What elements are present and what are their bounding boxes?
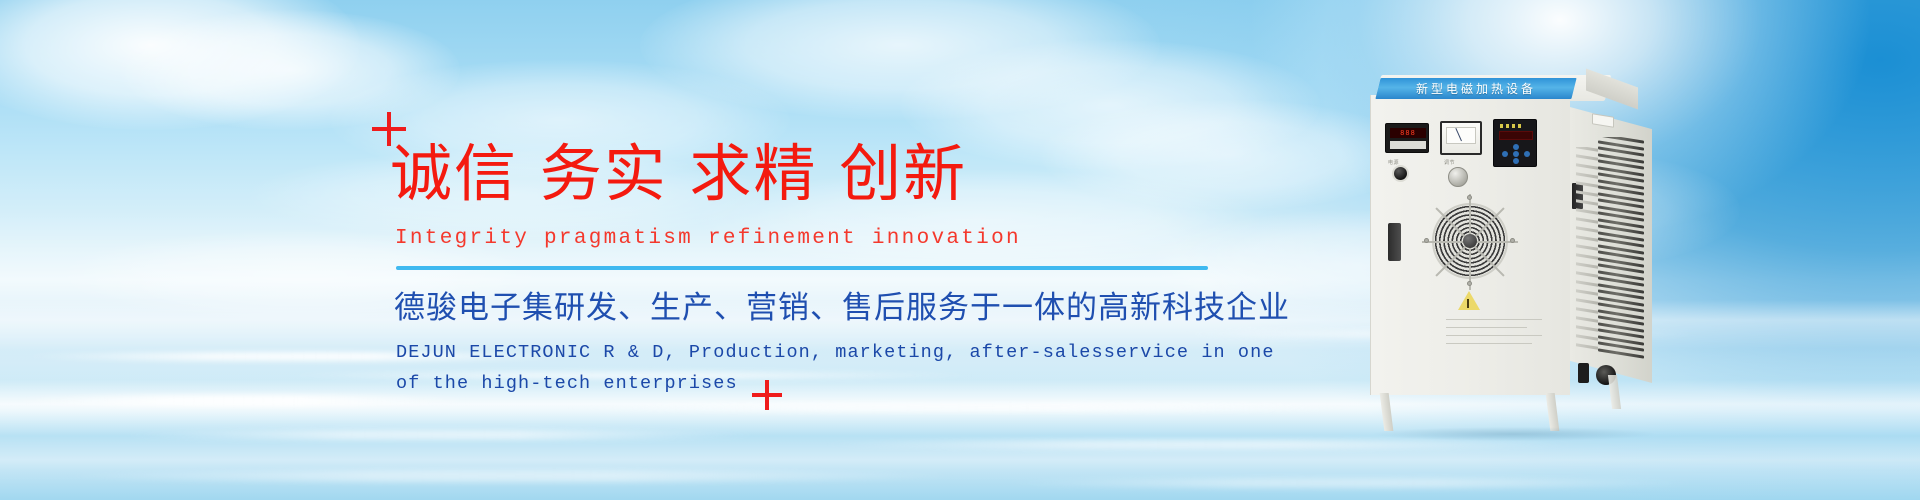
spec-text-line — [1446, 335, 1542, 336]
divider-line — [396, 266, 1208, 270]
plus-marker-icon — [752, 380, 782, 410]
status-led — [1500, 124, 1503, 128]
product-image-heating-machine: 新型电磁加热设备 888 — [1360, 75, 1690, 445]
warning-exclamation-mark — [1467, 299, 1469, 308]
grille-screw — [1467, 281, 1472, 286]
vent-slat — [1576, 147, 1598, 152]
promo-banner: 诚信 务实 求精 创新 Integrity pragmatism refinem… — [0, 0, 1920, 500]
machine-name-plate-text: 新型电磁加热设备 — [1416, 80, 1536, 97]
description-line-1: DEJUN ELECTRONIC R & D, Production, mark… — [396, 337, 1196, 368]
fan-hub — [1463, 234, 1477, 248]
machine-leg — [1380, 393, 1394, 431]
side-vent-group-inner — [1576, 147, 1598, 359]
spec-text-line — [1446, 343, 1532, 344]
spec-text-line — [1446, 327, 1527, 328]
meter-needle — [1455, 128, 1462, 141]
status-led-row — [1500, 124, 1521, 128]
controller-keypad[interactable] — [1390, 141, 1426, 149]
keypad-buttons[interactable] — [1502, 144, 1530, 164]
headline-english: Integrity pragmatism refinement innovati… — [395, 227, 1021, 250]
vent-slat — [1576, 262, 1598, 268]
door-handle[interactable] — [1388, 223, 1401, 261]
specification-label — [1446, 319, 1542, 351]
vent-slat — [1576, 298, 1598, 304]
status-led — [1512, 124, 1515, 128]
description-line-2: of the high-tech enterprises — [396, 368, 1196, 399]
vent-slat — [1576, 307, 1598, 313]
machine-leg — [1546, 393, 1560, 431]
side-vent-group-outer — [1598, 137, 1644, 361]
vent-slat — [1576, 289, 1598, 295]
vent-slat — [1576, 172, 1598, 178]
keypad-button-left[interactable] — [1502, 151, 1508, 157]
vent-slat — [1576, 280, 1598, 286]
vent-slat — [1576, 163, 1598, 169]
vent-slat — [1576, 199, 1598, 205]
vent-slat — [1576, 235, 1598, 241]
vent-slat — [1576, 244, 1598, 250]
analog-ammeter — [1440, 121, 1482, 155]
grille-screw — [1424, 238, 1429, 243]
keypad-display — [1499, 131, 1533, 140]
subtitle-chinese: 德骏电子集研发、生产、营销、售后服务于一体的高新科技企业 — [394, 290, 1290, 327]
vent-slat — [1576, 190, 1598, 196]
description-english: DEJUN ELECTRONIC R & D, Production, mark… — [396, 337, 1196, 399]
power-inlet-port — [1578, 363, 1589, 383]
grille-screw — [1467, 195, 1472, 200]
machine-name-plate: 新型电磁加热设备 — [1375, 78, 1576, 99]
vent-slat — [1576, 334, 1598, 340]
vent-slat — [1576, 154, 1598, 160]
warning-triangle-icon — [1458, 291, 1480, 310]
vent-slat — [1576, 217, 1598, 223]
machine-top-right-facet — [1586, 69, 1638, 110]
adjustment-knob[interactable] — [1448, 167, 1468, 187]
grille-screw — [1510, 238, 1515, 243]
vent-slat — [1576, 325, 1598, 331]
headline-chinese: 诚信 务实 求精 创新 — [390, 143, 967, 205]
keypad-button-up[interactable] — [1513, 144, 1519, 150]
keypad-button-right[interactable] — [1524, 151, 1530, 157]
keypad-button-down[interactable] — [1513, 158, 1519, 164]
cooling-fan-grille-icon — [1432, 203, 1508, 279]
spec-text-line — [1446, 319, 1542, 320]
vent-slat — [1576, 181, 1598, 187]
temperature-display: 888 — [1390, 128, 1426, 138]
keypad-button-enter[interactable] — [1513, 151, 1519, 157]
temperature-controller[interactable]: 888 — [1385, 123, 1429, 153]
vent-slat — [1576, 271, 1598, 277]
knob-label-adjust: 调节 — [1444, 159, 1455, 166]
machine-leg — [1608, 375, 1621, 409]
meter-dial-face — [1446, 127, 1476, 144]
vent-slat — [1576, 253, 1598, 259]
vent-slat — [1576, 208, 1598, 214]
banner-text-block: 诚信 务实 求精 创新 Integrity pragmatism refinem… — [0, 0, 1100, 500]
vent-slat — [1576, 343, 1598, 349]
machine-shadow — [1374, 427, 1654, 441]
water-streak — [1000, 478, 1700, 488]
status-led — [1506, 124, 1509, 128]
control-keypad-module[interactable] — [1493, 119, 1537, 167]
vent-slat — [1576, 316, 1598, 322]
vent-slat — [1576, 226, 1598, 232]
status-led — [1518, 124, 1521, 128]
power-switch-knob[interactable] — [1392, 165, 1409, 182]
